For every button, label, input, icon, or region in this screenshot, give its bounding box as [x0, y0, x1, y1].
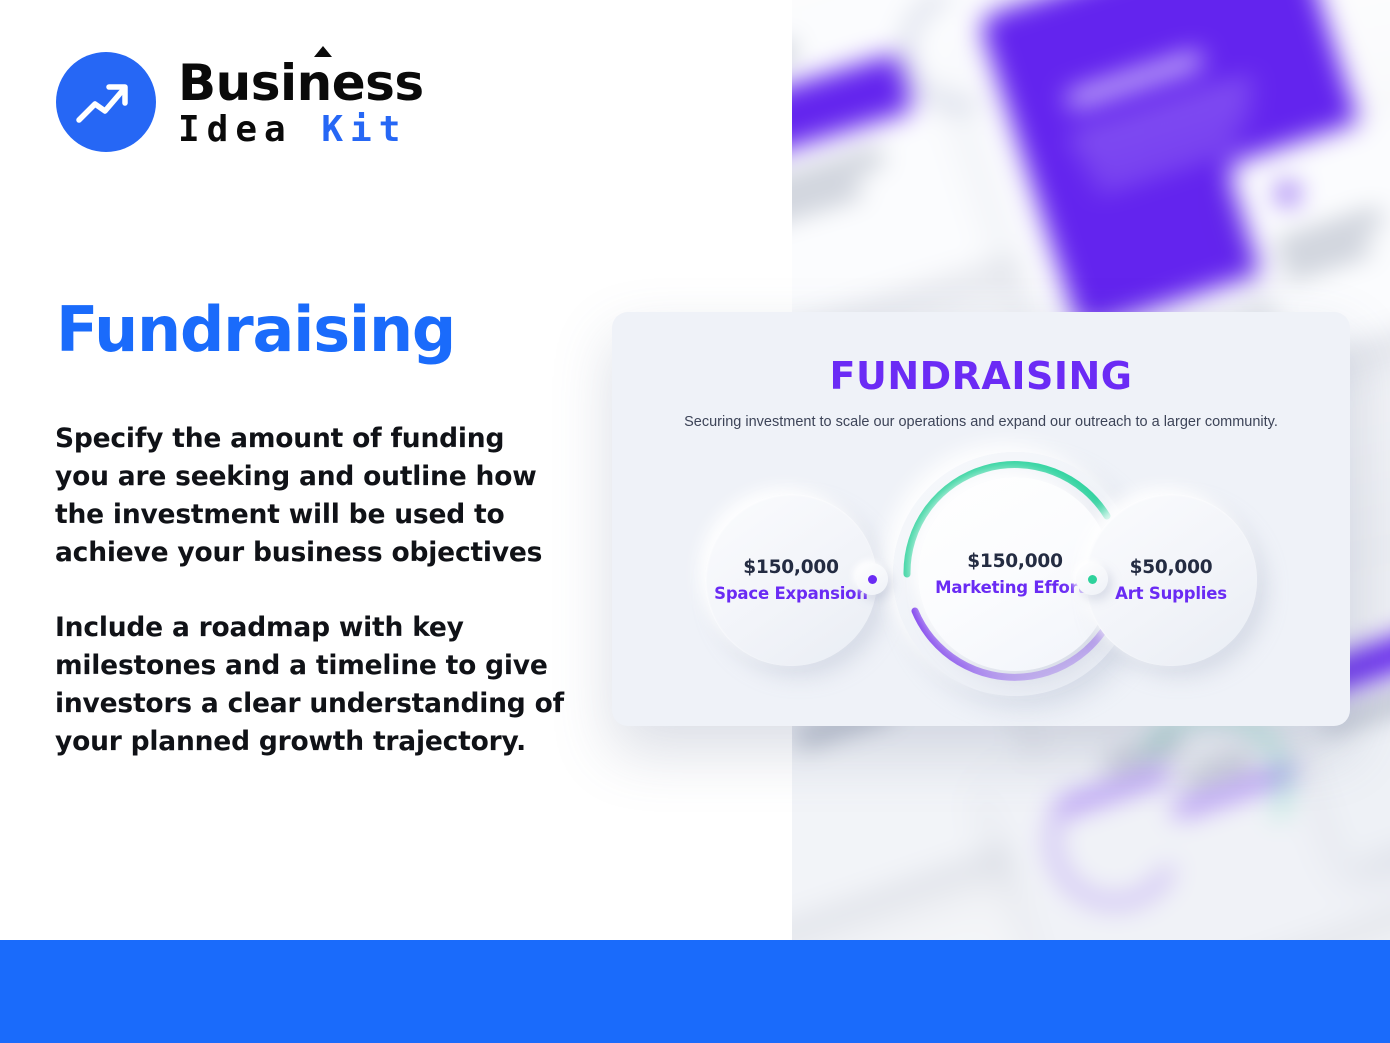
left-connector: [856, 563, 888, 595]
card-title: FUNDRAISING: [612, 354, 1350, 398]
deck-text-line: [792, 182, 862, 234]
brand-wordmark: Business Idea Kit: [178, 56, 424, 148]
brand-name-line2-prefix: Idea: [178, 109, 321, 150]
brand-name-line1: Business: [178, 58, 424, 108]
funding-amount: $150,000: [967, 551, 1063, 572]
body-paragraph-1: Specify the amount of funding you are se…: [55, 420, 565, 572]
left-connector-dot: [868, 575, 877, 584]
brand-name-line2: Idea Kit: [178, 112, 424, 148]
funding-category: Marketing Efforts: [935, 578, 1095, 597]
brand-name-line2-accent: Kit: [321, 109, 407, 150]
funding-category: Art Supplies: [1115, 584, 1227, 603]
right-connector-dot: [1088, 575, 1097, 584]
page-title: Fundraising: [56, 297, 455, 362]
body-paragraph-2: Include a roadmap with key milestones an…: [55, 609, 565, 761]
footer-accent-bar: [0, 940, 1390, 1043]
brand-logo[interactable]: Business Idea Kit: [56, 52, 424, 152]
caret-accent-icon: [314, 46, 332, 57]
funding-item-left[interactable]: $150,000 Space Expansion: [705, 494, 877, 666]
right-connector: [1076, 563, 1108, 595]
fundraising-preview-card[interactable]: FUNDRAISING Securing investment to scale…: [612, 312, 1350, 726]
slide-page: Business Idea Kit Fundraising Specify th…: [0, 0, 1390, 1043]
brand-name-line1-text: Business: [178, 54, 424, 112]
growth-chart-arrow-icon: [56, 52, 156, 152]
funding-item-right[interactable]: $50,000 Art Supplies: [1085, 494, 1257, 666]
deck-dot: [1275, 181, 1300, 206]
funding-category: Space Expansion: [714, 584, 868, 603]
funding-breakdown-diagram: $150,000 Space Expansion: [612, 479, 1350, 719]
funding-amount: $150,000: [743, 557, 839, 578]
card-subtitle: Securing investment to scale our operati…: [612, 412, 1350, 433]
funding-amount: $50,000: [1130, 557, 1213, 578]
